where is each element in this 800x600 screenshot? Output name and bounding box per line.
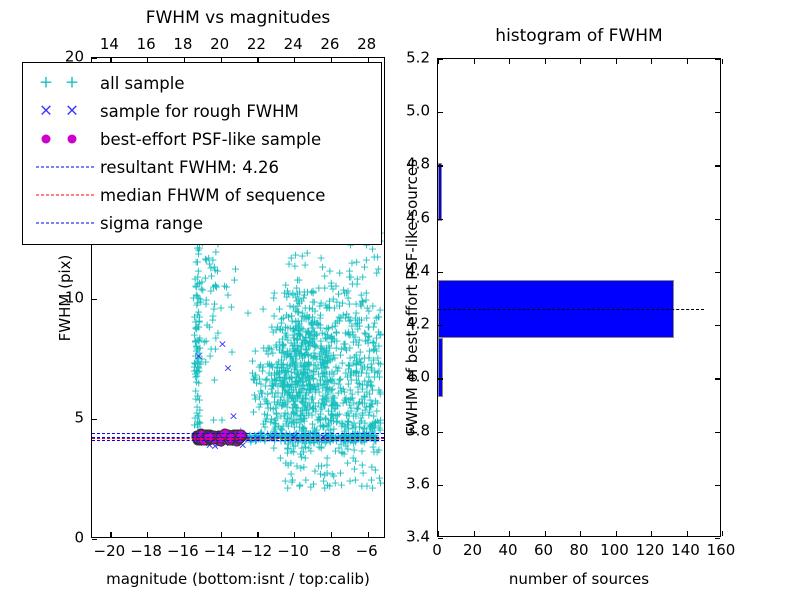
scatter-point-all-sample: +: [331, 280, 340, 291]
scatter-point-all-sample: +: [340, 430, 349, 441]
scatter-point-all-sample: +: [269, 404, 278, 415]
scatter-point-all-sample: +: [271, 375, 280, 386]
scatter-point-all-sample: +: [278, 343, 287, 354]
scatter-point-all-sample: +: [332, 328, 341, 339]
scatter-point-all-sample: +: [209, 415, 218, 426]
scatter-point-all-sample: +: [194, 411, 203, 422]
scatter-point-all-sample: +: [334, 311, 343, 322]
x-tick-bottom: [221, 532, 222, 537]
hist-x-tick: [474, 531, 475, 536]
scatter-point-all-sample: +: [359, 468, 368, 479]
scatter-point-all-sample: +: [301, 442, 310, 453]
scatter-point-all-sample: +: [296, 387, 305, 398]
scatter-point-all-sample: +: [277, 377, 286, 388]
scatter-point-all-sample: +: [277, 318, 286, 329]
legend-symbol: [32, 155, 98, 179]
scatter-point-all-sample: +: [347, 374, 356, 385]
scatter-point-all-sample: +: [277, 391, 286, 402]
scatter-point-all-sample: +: [192, 290, 201, 301]
scatter-point-all-sample: +: [292, 361, 301, 372]
scatter-point-all-sample: +: [194, 377, 203, 388]
scatter-point-all-sample: +: [256, 378, 265, 389]
sigma-range-line: [92, 440, 384, 441]
scatter-point-all-sample: +: [342, 410, 351, 421]
scatter-point-all-sample: +: [324, 340, 333, 351]
scatter-point-all-sample: +: [194, 335, 203, 346]
scatter-point-all-sample: +: [293, 334, 302, 345]
scatter-point-all-sample: +: [310, 381, 319, 392]
scatter-point-all-sample: +: [284, 386, 293, 397]
scatter-point-all-sample: +: [281, 415, 290, 426]
scatter-point-all-sample: +: [296, 323, 305, 334]
scatter-point-all-sample: +: [300, 360, 309, 371]
scatter-point-all-sample: +: [312, 363, 321, 374]
scatter-point-all-sample: +: [275, 336, 284, 347]
scatter-point-all-sample: +: [358, 272, 367, 283]
scatter-point-psf-like: [196, 430, 207, 441]
scatter-point-all-sample: +: [344, 363, 353, 374]
x-tick-bottom: [294, 532, 295, 537]
scatter-point-all-sample: +: [254, 430, 263, 441]
scatter-point-all-sample: +: [345, 265, 354, 276]
hist-x-tick: [651, 531, 652, 536]
scatter-point-all-sample: +: [283, 396, 292, 407]
scatter-point-all-sample: +: [329, 396, 338, 407]
hist-y-ticklabel: 4.0: [406, 370, 430, 385]
scatter-point-all-sample: +: [313, 433, 322, 444]
scatter-point-all-sample: +: [306, 317, 315, 328]
scatter-point-all-sample: +: [304, 379, 313, 390]
scatter-point-all-sample: +: [295, 329, 304, 340]
scatter-point-all-sample: +: [322, 323, 331, 334]
scatter-point-all-sample: +: [290, 399, 299, 410]
scatter-point-all-sample: +: [327, 373, 336, 384]
scatter-point-all-sample: +: [286, 351, 295, 362]
scatter-point-all-sample: +: [322, 346, 331, 357]
scatter-point-all-sample: +: [318, 382, 327, 393]
scatter-point-all-sample: +: [338, 398, 347, 409]
scatter-point-all-sample: +: [208, 255, 217, 266]
scatter-point-all-sample: +: [284, 381, 293, 392]
scatter-point-all-sample: +: [349, 417, 358, 428]
scatter-point-all-sample: +: [277, 314, 286, 325]
scatter-point-all-sample: +: [285, 360, 294, 371]
scatter-point-all-sample: +: [272, 376, 281, 387]
x-ticklabel-top: 16: [137, 37, 156, 52]
scatter-point-rough-fwhm: ×: [218, 339, 227, 350]
scatter-point-all-sample: +: [295, 351, 304, 362]
scatter-point-all-sample: +: [307, 319, 316, 330]
scatter-point-all-sample: +: [305, 311, 314, 322]
scatter-point-all-sample: +: [332, 335, 341, 346]
scatter-point-all-sample: +: [314, 415, 323, 426]
scatter-point-all-sample: +: [300, 289, 309, 300]
scatter-point-all-sample: +: [271, 325, 280, 336]
scatter-point-all-sample: +: [284, 365, 293, 376]
scatter-point-all-sample: +: [327, 400, 336, 411]
scatter-point-all-sample: +: [278, 360, 287, 371]
scatter-point-all-sample: +: [345, 271, 354, 282]
scatter-point-all-sample: +: [309, 348, 318, 359]
scatter-point-all-sample: +: [291, 367, 300, 378]
scatter-point-all-sample: +: [362, 434, 371, 445]
scatter-point-all-sample: +: [362, 386, 371, 397]
scatter-point-all-sample: +: [314, 369, 323, 380]
scatter-point-psf-like: [218, 433, 229, 444]
scatter-point-all-sample: +: [341, 392, 350, 403]
scatter-point-all-sample: +: [328, 390, 337, 401]
scatter-point-all-sample: +: [250, 390, 259, 401]
scatter-point-all-sample: +: [300, 412, 309, 423]
scatter-point-all-sample: +: [373, 353, 382, 364]
scatter-point-all-sample: +: [358, 379, 367, 390]
scatter-point-all-sample: +: [291, 316, 300, 327]
scatter-point-all-sample: +: [342, 345, 351, 356]
scatter-point-all-sample: +: [305, 402, 314, 413]
scatter-point-all-sample: +: [309, 381, 318, 392]
scatter-point-all-sample: +: [263, 410, 272, 421]
scatter-point-all-sample: +: [303, 247, 312, 258]
scatter-point-all-sample: +: [297, 380, 306, 391]
scatter-point-all-sample: +: [345, 399, 354, 410]
scatter-point-all-sample: +: [334, 289, 343, 300]
scatter-point-all-sample: +: [351, 474, 360, 485]
scatter-point-all-sample: +: [207, 270, 216, 281]
scatter-point-all-sample: +: [353, 324, 362, 335]
scatter-point-all-sample: +: [357, 445, 366, 456]
scatter-point-all-sample: +: [327, 434, 336, 445]
scatter-point-all-sample: +: [220, 280, 229, 291]
scatter-point-all-sample: +: [279, 358, 288, 369]
scatter-point-all-sample: +: [344, 327, 353, 338]
scatter-point-all-sample: +: [191, 358, 200, 369]
scatter-point-all-sample: +: [270, 417, 279, 428]
scatter-point-all-sample: +: [290, 326, 299, 337]
scatter-point-all-sample: +: [268, 380, 277, 391]
legend-label: sample for rough FWHM: [98, 102, 299, 121]
scatter-point-all-sample: +: [289, 396, 298, 407]
scatter-point-all-sample: +: [371, 340, 380, 351]
scatter-point-all-sample: +: [301, 327, 310, 338]
scatter-point-all-sample: +: [316, 441, 325, 452]
scatter-point-all-sample: +: [193, 417, 202, 428]
scatter-point-all-sample: +: [329, 349, 338, 360]
scatter-point-all-sample: +: [273, 388, 282, 399]
hist-y-tick: [438, 219, 443, 220]
scatter-point-all-sample: +: [369, 447, 378, 458]
scatter-point-all-sample: +: [272, 368, 281, 379]
scatter-point-all-sample: +: [279, 375, 288, 386]
scatter-point-all-sample: +: [269, 430, 278, 441]
scatter-point-all-sample: +: [314, 360, 323, 371]
scatter-point-all-sample: +: [194, 307, 203, 318]
hist-y-tick-right: [715, 378, 720, 379]
scatter-point-all-sample: +: [299, 293, 308, 304]
scatter-point-all-sample: +: [316, 421, 325, 432]
scatter-point-all-sample: +: [364, 429, 373, 440]
scatter-point-all-sample: +: [211, 280, 220, 291]
scatter-point-all-sample: +: [316, 468, 325, 479]
scatter-point-all-sample: +: [192, 300, 201, 311]
scatter-point-all-sample: +: [350, 464, 359, 475]
scatter-point-all-sample: +: [374, 417, 383, 428]
scatter-point-all-sample: +: [193, 390, 202, 401]
scatter-point-psf-like: [230, 430, 241, 441]
scatter-point-all-sample: +: [304, 357, 313, 368]
scatter-point-all-sample: +: [349, 410, 358, 421]
scatter-point-all-sample: +: [320, 483, 329, 494]
scatter-point-all-sample: +: [334, 362, 343, 373]
scatter-point-all-sample: +: [279, 411, 288, 422]
scatter-point-all-sample: +: [368, 419, 377, 430]
scatter-point-all-sample: +: [296, 449, 305, 460]
scatter-point-all-sample: +: [259, 303, 268, 314]
scatter-point-all-sample: +: [289, 409, 298, 420]
x-ticklabel-top: 14: [100, 37, 119, 52]
scatter-point-all-sample: +: [289, 393, 298, 404]
scatter-point-psf-like: [222, 433, 233, 444]
scatter-point-all-sample: +: [326, 430, 335, 441]
dashed-line-icon: [36, 195, 94, 196]
scatter-point-all-sample: +: [358, 459, 367, 470]
scatter-point-all-sample: +: [193, 298, 202, 309]
scatter-point-all-sample: +: [217, 415, 226, 426]
scatter-point-all-sample: +: [320, 345, 329, 356]
scatter-point-all-sample: +: [311, 351, 320, 362]
scatter-point-all-sample: +: [323, 355, 332, 366]
scatter-point-all-sample: +: [322, 383, 331, 394]
scatter-point-all-sample: +: [341, 367, 350, 378]
scatter-point-all-sample: +: [297, 425, 306, 436]
scatter-point-all-sample: +: [365, 331, 374, 342]
x-ticklabel-bottom: −6: [356, 544, 378, 559]
scatter-point-all-sample: +: [265, 342, 274, 353]
scatter-point-all-sample: +: [248, 367, 257, 378]
scatter-point-all-sample: +: [364, 375, 373, 386]
scatter-point-all-sample: +: [294, 328, 303, 339]
scatter-point-all-sample: +: [283, 348, 292, 359]
scatter-point-all-sample: +: [273, 381, 282, 392]
hist-y-tick: [438, 538, 443, 539]
scatter-point-all-sample: +: [283, 460, 292, 471]
scatter-point-all-sample: +: [364, 305, 373, 316]
scatter-point-all-sample: +: [286, 390, 295, 401]
scatter-point-all-sample: +: [331, 362, 340, 373]
scatter-point-all-sample: +: [338, 297, 347, 308]
scatter-point-all-sample: +: [269, 442, 278, 453]
scatter-point-all-sample: +: [282, 330, 291, 341]
scatter-point-all-sample: +: [281, 386, 290, 397]
scatter-point-all-sample: +: [272, 398, 281, 409]
scatter-point-all-sample: +: [322, 342, 331, 353]
scatter-point-all-sample: +: [193, 422, 202, 433]
scatter-point-all-sample: +: [316, 253, 325, 264]
x-tick-bottom: [184, 532, 185, 537]
scatter-point-all-sample: +: [317, 346, 326, 357]
scatter-point-all-sample: +: [340, 338, 349, 349]
scatter-point-all-sample: +: [319, 475, 328, 486]
scatter-point-all-sample: +: [301, 393, 310, 404]
scatter-point-all-sample: +: [300, 367, 309, 378]
scatter-point-all-sample: +: [258, 362, 267, 373]
scatter-point-all-sample: +: [293, 306, 302, 317]
scatter-point-all-sample: +: [322, 334, 331, 345]
scatter-point-all-sample: +: [350, 332, 359, 343]
scatter-point-all-sample: +: [304, 397, 313, 408]
scatter-point-all-sample: +: [317, 404, 326, 415]
scatter-point-all-sample: +: [194, 363, 203, 374]
scatter-point-all-sample: +: [283, 442, 292, 453]
scatter-point-all-sample: +: [299, 447, 308, 458]
scatter-point-all-sample: +: [289, 441, 298, 452]
scatter-point-all-sample: +: [316, 408, 325, 419]
scatter-point-all-sample: +: [373, 367, 382, 378]
scatter-point-all-sample: +: [348, 393, 357, 404]
scatter-point-all-sample: +: [318, 343, 327, 354]
scatter-point-all-sample: +: [212, 433, 221, 444]
scatter-point-all-sample: +: [317, 362, 326, 373]
scatter-point-all-sample: +: [376, 477, 384, 488]
scatter-point-all-sample: +: [191, 316, 200, 327]
hist-y-tick-right: [715, 165, 720, 166]
scatter-point-all-sample: +: [349, 437, 358, 448]
scatter-point-all-sample: +: [288, 357, 297, 368]
scatter-point-all-sample: +: [298, 311, 307, 322]
scatter-point-all-sample: +: [267, 384, 276, 395]
scatter-point-all-sample: +: [327, 331, 336, 342]
scatter-point-all-sample: +: [302, 404, 311, 415]
scatter-point-all-sample: +: [358, 410, 367, 421]
scatter-point-all-sample: +: [192, 324, 201, 335]
legend-label: median FHWM of sequence: [98, 186, 325, 205]
scatter-point-all-sample: +: [263, 358, 272, 369]
scatter-point-psf-like: [233, 433, 244, 444]
scatter-point-all-sample: +: [352, 308, 361, 319]
scatter-point-all-sample: +: [283, 448, 292, 459]
scatter-point-all-sample: +: [287, 310, 296, 321]
scatter-point-all-sample: +: [336, 382, 345, 393]
scatter-point-all-sample: +: [339, 310, 348, 321]
scatter-point-all-sample: +: [197, 353, 206, 364]
scatter-point-all-sample: +: [350, 433, 359, 444]
scatter-point-all-sample: +: [208, 311, 217, 322]
scatter-point-all-sample: +: [270, 370, 279, 381]
scatter-point-all-sample: +: [302, 407, 311, 418]
hist-y-ticklabel: 4.4: [406, 263, 430, 278]
legend-label: best-effort PSF-like sample: [98, 130, 321, 149]
scatter-point-all-sample: +: [192, 402, 201, 413]
scatter-point-all-sample: +: [302, 403, 311, 414]
scatter-point-all-sample: +: [298, 324, 307, 335]
scatter-point-all-sample: +: [356, 356, 365, 367]
scatter-point-all-sample: +: [266, 429, 275, 440]
scatter-point-all-sample: +: [331, 318, 340, 329]
scatter-point-all-sample: +: [323, 392, 332, 403]
legend-label: resultant FWHM: 4.26: [98, 158, 279, 177]
scatter-point-all-sample: +: [193, 272, 202, 283]
scatter-point-all-sample: +: [344, 379, 353, 390]
scatter-point-all-sample: +: [308, 402, 317, 413]
scatter-point-all-sample: +: [288, 289, 297, 300]
scatter-point-all-sample: +: [369, 322, 378, 333]
scatter-point-all-sample: +: [303, 360, 312, 371]
scatter-point-all-sample: +: [293, 323, 302, 334]
scatter-point-all-sample: +: [189, 292, 198, 303]
scatter-point-all-sample: +: [356, 359, 365, 370]
scatter-point-all-sample: +: [332, 327, 341, 338]
scatter-point-all-sample: +: [285, 381, 294, 392]
scatter-point-all-sample: +: [376, 418, 384, 429]
scatter-point-all-sample: +: [194, 322, 203, 333]
scatter-point-all-sample: +: [308, 297, 317, 308]
scatter-point-all-sample: +: [291, 346, 300, 357]
scatter-point-all-sample: +: [320, 351, 329, 362]
scatter-point-all-sample: +: [191, 257, 200, 268]
scatter-point-all-sample: +: [195, 294, 204, 305]
scatter-point-all-sample: +: [211, 247, 220, 258]
scatter-point-all-sample: +: [349, 367, 358, 378]
scatter-legend: ++all sample××sample for rough FWHMbest-…: [22, 62, 382, 245]
scatter-point-all-sample: +: [273, 363, 282, 374]
scatter-point-all-sample: +: [314, 319, 323, 330]
scatter-point-all-sample: +: [301, 350, 310, 361]
scatter-point-all-sample: +: [351, 319, 360, 330]
scatter-point-all-sample: +: [320, 366, 329, 377]
scatter-point-all-sample: +: [191, 369, 200, 380]
scatter-point-all-sample: +: [322, 302, 331, 313]
scatter-point-all-sample: +: [353, 378, 362, 389]
scatter-point-all-sample: +: [366, 402, 375, 413]
scatter-point-all-sample: +: [297, 366, 306, 377]
scatter-point-all-sample: +: [337, 386, 346, 397]
scatter-point-all-sample: +: [362, 254, 371, 265]
scatter-point-all-sample: +: [322, 362, 331, 373]
scatter-point-all-sample: +: [341, 395, 350, 406]
scatter-point-all-sample: +: [286, 372, 295, 383]
scatter-point-all-sample: +: [193, 290, 202, 301]
scatter-point-all-sample: +: [269, 326, 278, 337]
scatter-point-all-sample: +: [321, 412, 330, 423]
scatter-point-all-sample: +: [345, 329, 354, 340]
hist-y-tick-right: [715, 59, 720, 60]
scatter-point-all-sample: +: [322, 323, 331, 334]
scatter-point-all-sample: +: [338, 419, 347, 430]
legend-item: ++all sample: [32, 69, 372, 97]
histogram-plot-area: [438, 59, 720, 536]
scatter-point-all-sample: +: [304, 374, 313, 385]
scatter-point-all-sample: +: [193, 279, 202, 290]
scatter-point-all-sample: +: [198, 284, 207, 295]
scatter-point-all-sample: +: [368, 398, 377, 409]
scatter-point-all-sample: +: [201, 356, 210, 367]
scatter-point-all-sample: +: [287, 381, 296, 392]
scatter-point-all-sample: +: [256, 398, 265, 409]
scatter-point-all-sample: +: [285, 412, 294, 423]
scatter-point-psf-like: [216, 433, 227, 444]
legend-item: median FHWM of sequence: [32, 181, 372, 209]
scatter-point-all-sample: +: [280, 379, 289, 390]
scatter-point-psf-like: [198, 433, 209, 444]
scatter-point-all-sample: +: [273, 321, 282, 332]
scatter-point-all-sample: +: [291, 321, 300, 332]
scatter-point-all-sample: +: [346, 365, 355, 376]
scatter-point-all-sample: +: [358, 397, 367, 408]
scatter-point-all-sample: +: [344, 410, 353, 421]
scatter-point-all-sample: +: [304, 341, 313, 352]
hist-x-ticklabel: 40: [498, 543, 517, 558]
left-panel-title: FWHM vs magnitudes: [146, 8, 331, 28]
scatter-point-all-sample: +: [269, 381, 278, 392]
